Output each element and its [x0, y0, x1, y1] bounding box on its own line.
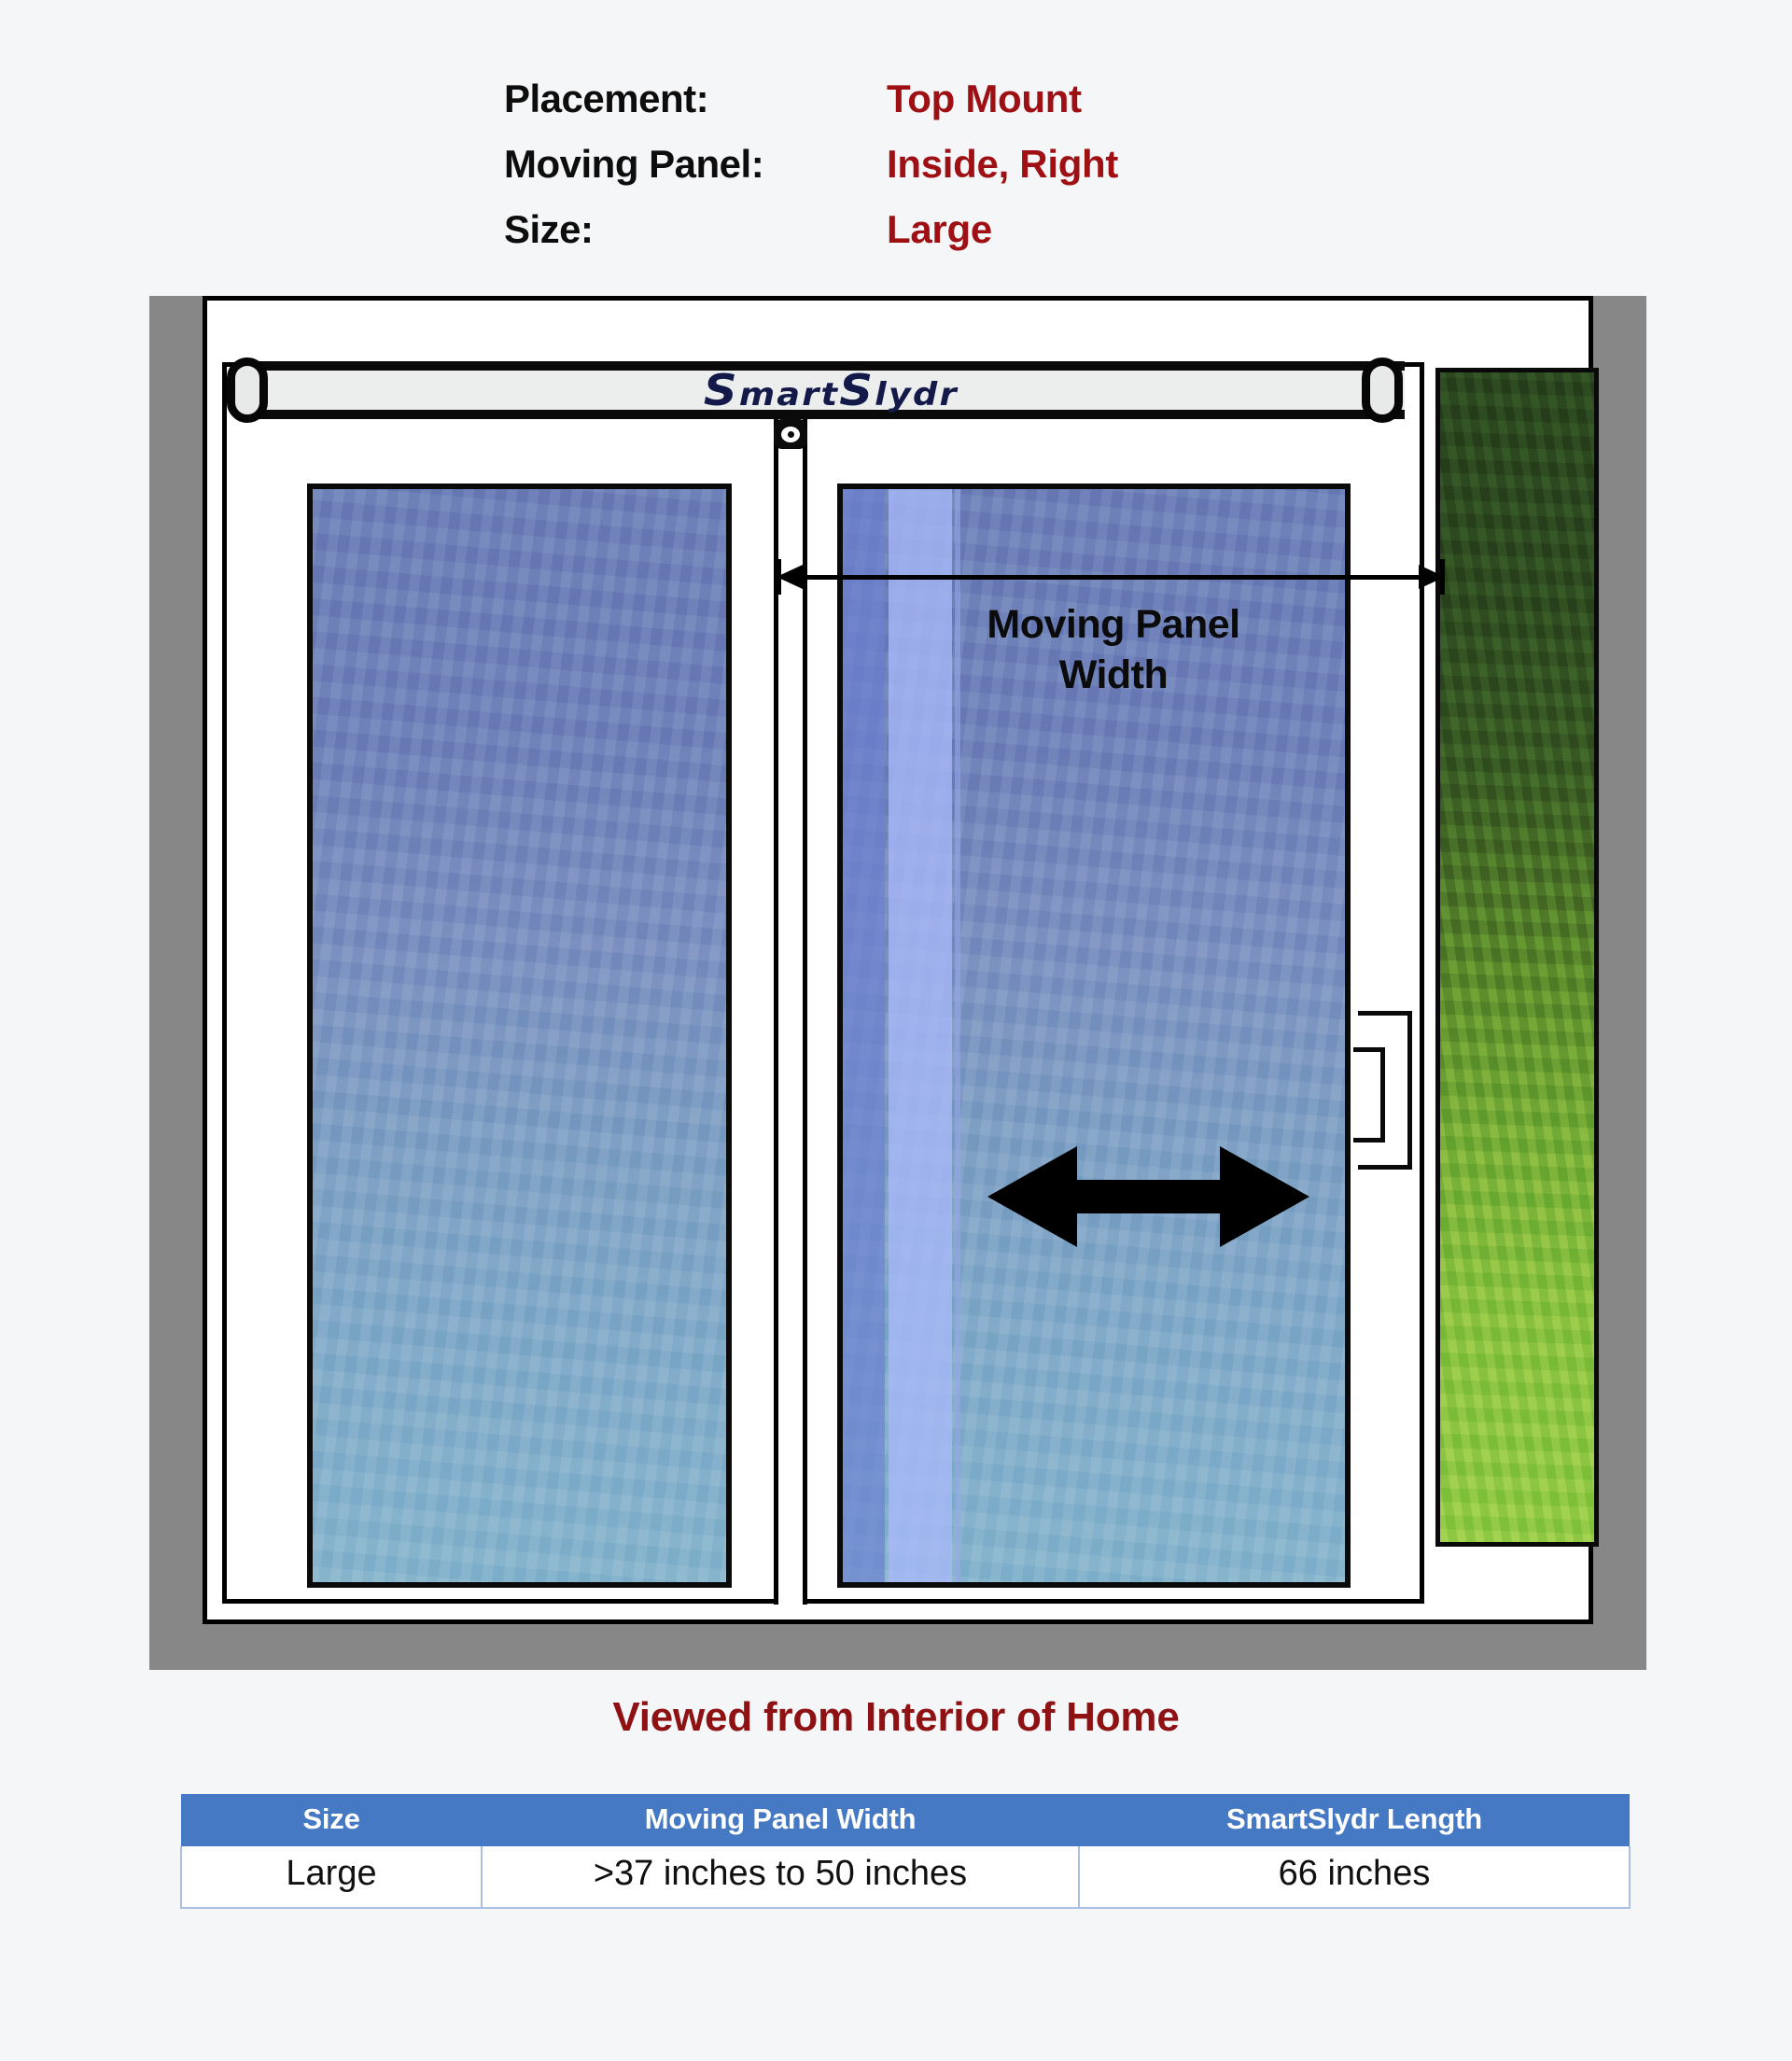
size-specification-table: Size Moving Panel Width SmartSlydr Lengt…: [180, 1794, 1631, 1909]
camera-sensor-icon: [774, 419, 807, 449]
specification-summary: Placement: Top Mount Moving Panel: Insid…: [504, 67, 1118, 261]
mounting-bracket-right-icon: [1362, 358, 1403, 423]
spec-value-moving-panel: Inside, Right: [887, 133, 1118, 196]
sliding-door-illustration: Moving Panel Width SmartSlydr: [149, 296, 1646, 1670]
spec-label-size: Size:: [504, 198, 887, 261]
view-orientation-caption: Viewed from Interior of Home: [0, 1694, 1792, 1741]
spec-value-size: Large: [887, 198, 1118, 261]
cell-panel-width: >37 inches to 50 inches: [482, 1846, 1079, 1908]
moving-panel-width-dimension-arrow: [777, 565, 1445, 589]
moving-panel-width-label: Moving Panel Width: [824, 600, 1403, 701]
table-header-panel-width: Moving Panel Width: [482, 1794, 1079, 1846]
fixed-glass-panel: [307, 484, 732, 1588]
table-header-row: Size Moving Panel Width SmartSlydr Lengt…: [181, 1794, 1630, 1846]
cell-size: Large: [181, 1846, 482, 1908]
center-stile: [774, 419, 807, 1605]
double-arrow-bar: [1058, 1180, 1239, 1213]
cell-slydr-length: 66 inches: [1079, 1846, 1630, 1908]
door-outer-casing: Moving Panel Width SmartSlydr: [203, 296, 1593, 1624]
arrow-head-right-icon: [1419, 565, 1445, 589]
table-header-size: Size: [181, 1794, 482, 1846]
mounting-bracket-left-icon: [227, 358, 268, 423]
outdoor-view-panel: [1435, 368, 1599, 1547]
spec-value-placement: Top Mount: [887, 67, 1118, 131]
smartslydr-logo: SmartSlydr: [704, 365, 959, 415]
door-handle[interactable]: [1358, 1011, 1412, 1170]
slide-direction-double-arrow-icon: [987, 1146, 1309, 1247]
table-row: Large >37 inches to 50 inches 66 inches: [181, 1846, 1630, 1908]
table-header-slydr-length: SmartSlydr Length: [1079, 1794, 1630, 1846]
door-opening-frame: Moving Panel Width SmartSlydr: [222, 362, 1424, 1604]
dimension-shaft: [799, 575, 1422, 580]
double-arrow-right-tip: [1220, 1146, 1309, 1247]
spec-label-moving-panel: Moving Panel:: [504, 133, 887, 196]
smartslydr-bar: SmartSlydr: [257, 361, 1405, 419]
spec-label-placement: Placement:: [504, 67, 887, 131]
sensor-lens: [781, 427, 800, 442]
dimension-label-line-1: Moving Panel: [824, 600, 1403, 651]
dimension-label-line-2: Width: [824, 651, 1403, 701]
